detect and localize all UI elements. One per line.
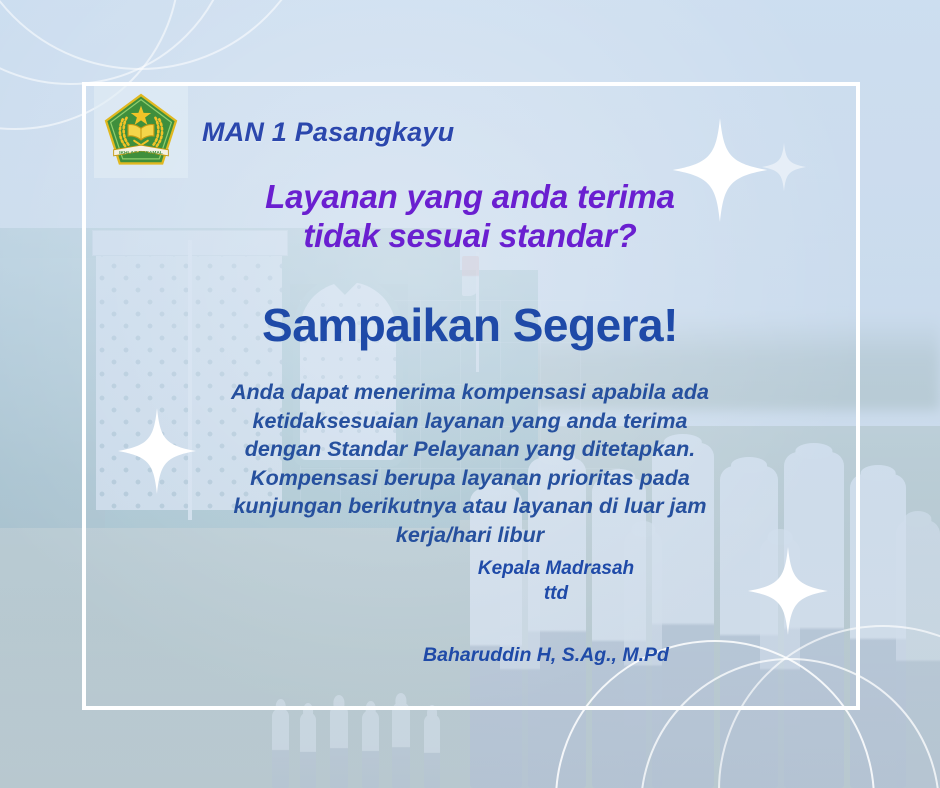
- poster-content: IKHLAS BERAMAL MAN 1 Pasangkayu Layanan …: [0, 0, 940, 788]
- headline-question-line2: tidak sesuai standar?: [0, 217, 940, 256]
- kemenag-logo-icon: IKHLAS BERAMAL: [102, 92, 180, 173]
- poster-canvas: IKHLAS BERAMAL MAN 1 Pasangkayu Layanan …: [0, 0, 940, 788]
- body-paragraph: Anda dapat menerima kompensasi apabila a…: [140, 378, 800, 550]
- organization-name: MAN 1 Pasangkayu: [202, 117, 454, 148]
- signature-title: Kepala Madrasah: [172, 557, 940, 582]
- signature-ttd: ttd: [172, 582, 940, 607]
- brand-header: IKHLAS BERAMAL MAN 1 Pasangkayu: [94, 86, 454, 178]
- body-line-4: Kompensasi berupa layanan prioritas pada: [140, 464, 800, 493]
- headline-question: Layanan yang anda terima tidak sesuai st…: [0, 178, 940, 256]
- headline-main: Sampaikan Segera!: [0, 298, 940, 352]
- signature-title-block: Kepala Madrasah ttd: [0, 557, 940, 606]
- svg-text:IKHLAS BERAMAL: IKHLAS BERAMAL: [119, 149, 163, 155]
- signature-name: Baharuddin H, S.Ag., M.Pd: [0, 644, 940, 667]
- body-line-3: dengan Standar Pelayanan yang ditetapkan…: [140, 435, 800, 464]
- logo-panel: IKHLAS BERAMAL: [94, 86, 188, 178]
- body-line-6: kerja/hari libur: [140, 521, 800, 550]
- body-line-2: ketidaksesuaian layanan yang anda terima: [140, 407, 800, 436]
- body-line-5: kunjungan berikutnya atau layanan di lua…: [140, 492, 800, 521]
- body-line-1: Anda dapat menerima kompensasi apabila a…: [140, 378, 800, 407]
- headline-question-line1: Layanan yang anda terima: [265, 178, 675, 215]
